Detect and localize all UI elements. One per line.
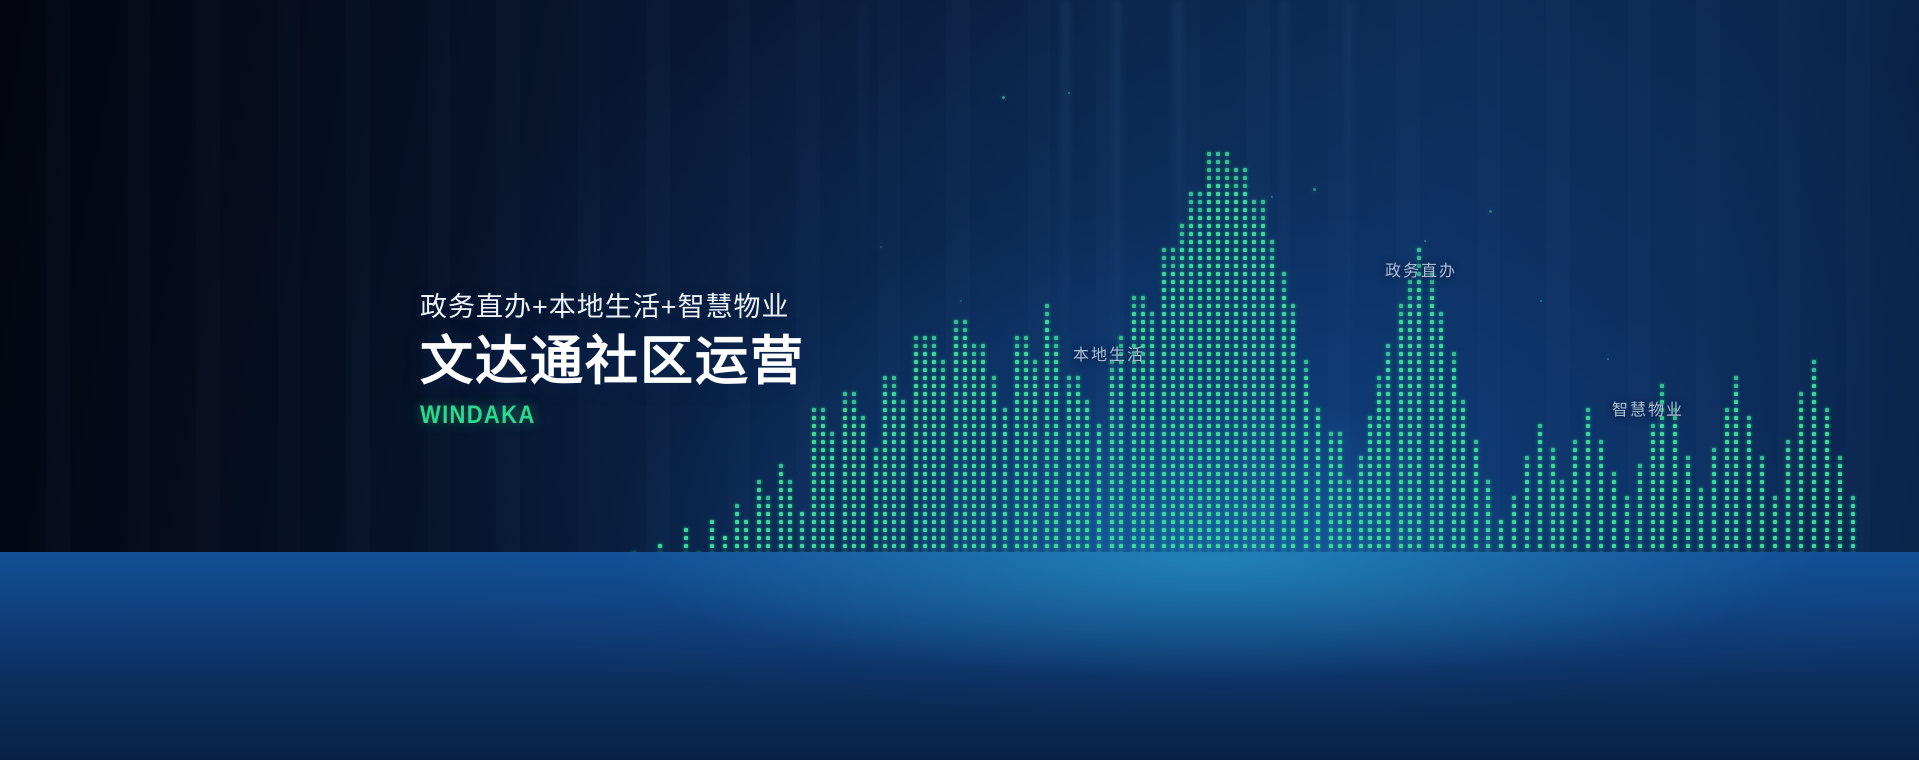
hero-copy: 政务直办+本地生活+智慧物业 文达通社区运营 WINDAKA xyxy=(420,291,1060,430)
hero-kicker: 政务直办+本地生活+智慧物业 xyxy=(420,291,1060,323)
particle xyxy=(880,246,882,248)
hero-banner: 政务直办本地生活智慧物业 政务直办+本地生活+智慧物业 文达通社区运营 WIND… xyxy=(0,0,1919,760)
particle xyxy=(1540,300,1542,302)
floor-base xyxy=(0,552,1919,760)
particle xyxy=(1068,92,1070,94)
particle xyxy=(1271,196,1273,198)
particle xyxy=(1188,250,1190,252)
perspective-floor xyxy=(0,460,1919,760)
city-label-2: 智慧物业 xyxy=(1612,396,1684,420)
particle xyxy=(1607,358,1609,360)
particle xyxy=(1383,420,1385,422)
city-label-0: 政务直办 xyxy=(1385,257,1457,281)
particle xyxy=(1660,424,1663,427)
city-label-1: 本地生活 xyxy=(1073,341,1145,365)
particle xyxy=(1002,96,1005,99)
hero-headline: 文达通社区运营 xyxy=(420,332,1060,391)
particle xyxy=(1424,240,1426,242)
particle xyxy=(1489,210,1492,213)
particle xyxy=(1313,188,1316,191)
brand-wordmark: WINDAKA xyxy=(420,401,983,430)
